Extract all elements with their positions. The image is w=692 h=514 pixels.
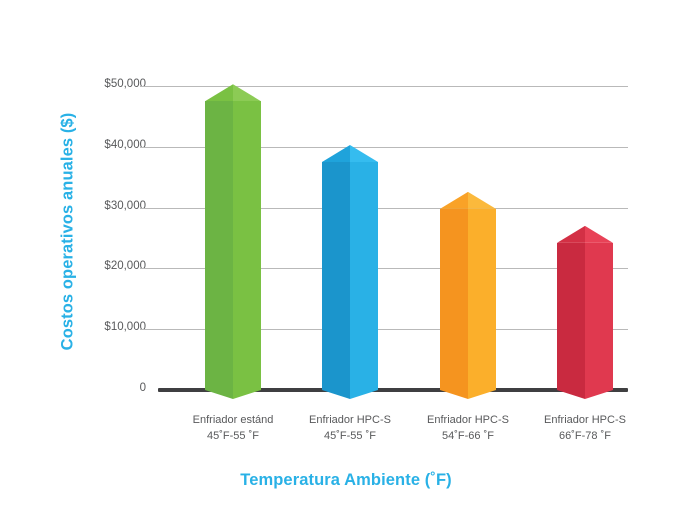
bar-cap-right <box>233 84 261 101</box>
bar-foot-right <box>233 390 261 399</box>
bar-cap-left <box>440 192 468 209</box>
y-axis-tick <box>140 208 158 209</box>
x-axis-title: Temperatura Ambiente (˚F) <box>0 471 692 490</box>
bar-bottom-foot <box>322 390 378 399</box>
bar-cap-right <box>585 226 613 243</box>
bar-face-left <box>322 162 350 390</box>
bar-face-right <box>585 243 613 390</box>
bar-face-right <box>350 162 378 390</box>
bar-face-right <box>468 209 496 390</box>
bar-cap-right <box>350 145 378 162</box>
bar-enfriador-estandar[interactable] <box>205 101 261 390</box>
y-axis-tick <box>140 329 158 330</box>
bar-face-left <box>557 243 585 390</box>
bar-foot-left <box>205 390 233 399</box>
bar-hpcs-45-55[interactable] <box>322 162 378 390</box>
bar-face-left <box>440 209 468 390</box>
bar-top-cap <box>557 226 613 243</box>
bar-top-cap <box>322 145 378 162</box>
bar-face-left <box>205 101 233 390</box>
bar-foot-right <box>350 390 378 399</box>
y-axis-tick-label: $50,000 <box>104 78 146 90</box>
y-axis-tick-label: $20,000 <box>104 260 146 272</box>
bar-face-right <box>233 101 261 390</box>
bar-cap-left <box>205 84 233 101</box>
bar-cap-left <box>557 226 585 243</box>
bar-cap-right <box>468 192 496 209</box>
bar-foot-left <box>440 390 468 399</box>
bar-hpcs-54-66[interactable] <box>440 209 496 390</box>
y-axis-tick <box>140 268 158 269</box>
y-axis-tick <box>140 147 158 148</box>
y-axis-tick-labels: $50,000$40,000$30,000$20,000$10,0000 <box>0 80 146 400</box>
x-axis-category-label: Enfriador HPC-S66˚F-78 ˚F <box>505 412 665 444</box>
bar-bottom-foot <box>440 390 496 399</box>
bar-bottom-foot <box>205 390 261 399</box>
bar-foot-right <box>585 390 613 399</box>
bar-foot-left <box>557 390 585 399</box>
bar-top-cap <box>440 192 496 209</box>
y-axis-tick-label: $30,000 <box>104 200 146 212</box>
bar-chart: Costos operativos anuales ($) $50,000$40… <box>0 0 692 514</box>
bar-top-cap <box>205 84 261 101</box>
y-axis-tick-label: $10,000 <box>104 321 146 333</box>
y-axis-tick-label: 0 <box>140 382 146 394</box>
y-axis-tick-label: $40,000 <box>104 139 146 151</box>
bar-foot-left <box>322 390 350 399</box>
bar-foot-right <box>468 390 496 399</box>
bar-bottom-foot <box>557 390 613 399</box>
bar-hpcs-66-78[interactable] <box>557 243 613 390</box>
y-axis-tick <box>140 86 158 87</box>
bar-cap-left <box>322 145 350 162</box>
plot-area <box>158 80 628 391</box>
